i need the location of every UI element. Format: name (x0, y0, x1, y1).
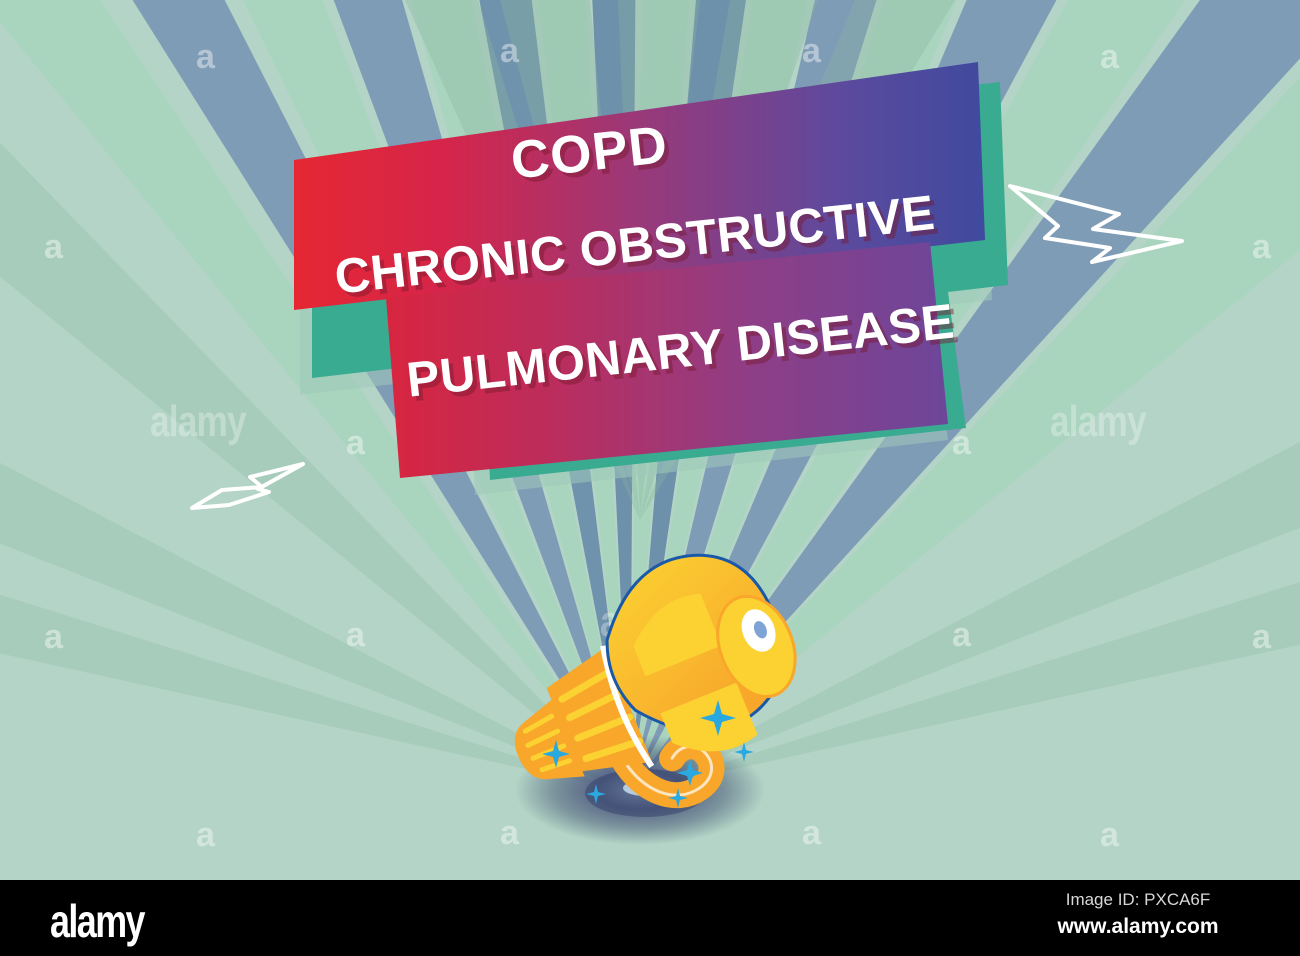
title-line-3: PULMONARY DISEASE (404, 294, 957, 409)
title-line-1: COPD (508, 114, 671, 192)
stock-photo-artwork: aaaaaaaaaaaaaaaaaaaalamyalamyalamyalamya… (0, 0, 1300, 880)
alamy-logo: alamy (50, 894, 144, 948)
image-id-label: Image ID: PXCA6F (1008, 890, 1268, 910)
screenshot-root: aaaaaaaaaaaaaaaaaaaalamyalamyalamyalamya… (0, 0, 1300, 956)
banner-title-block: COPD CHRONIC OBSTRUCTIVE PULMONARY DISEA… (0, 0, 1300, 880)
alamy-url-label: www.alamy.com (1008, 915, 1268, 939)
alamy-footer-bar: alamy Image ID: PXCA6F www.alamy.com (0, 880, 1300, 956)
title-line-2: CHRONIC OBSTRUCTIVE (332, 185, 937, 306)
